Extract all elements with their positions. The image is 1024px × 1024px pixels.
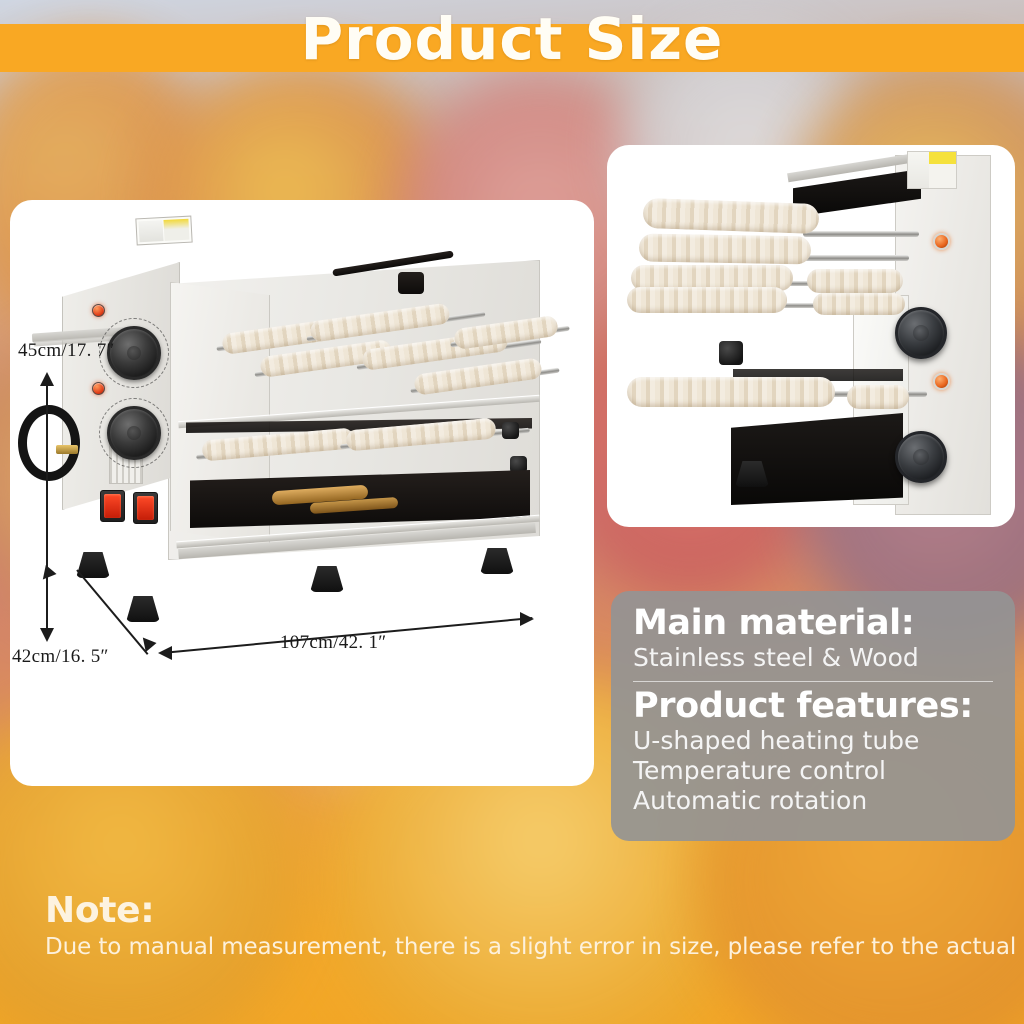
info-panel: Main material: Stainless steel & Wood Pr… — [611, 591, 1015, 841]
warning-label — [907, 151, 957, 189]
product-features-list: U-shaped heating tube Temperature contro… — [633, 726, 993, 816]
product-size-infographic: Product Size — [0, 0, 1024, 1024]
roller-shaft — [803, 231, 919, 237]
wooden-roller — [807, 269, 903, 293]
dimension-label-width: 107cm/42. 1″ — [280, 632, 387, 654]
dimension-label-height: 45cm/17. 7″ — [18, 340, 115, 362]
wooden-roller — [639, 234, 811, 265]
indicator-lamp-upper — [933, 233, 950, 250]
label-warning-half — [163, 219, 190, 241]
roller-shaft — [797, 255, 909, 261]
dimension-arrow-height-line — [46, 382, 48, 632]
dimension-label-depth: 42cm/16. 5″ — [12, 646, 109, 668]
note-block: Note: Due to manual measurement, there i… — [45, 893, 1005, 962]
power-switch-right[interactable] — [133, 492, 158, 524]
machine-foot — [310, 566, 344, 592]
thermostat-knob-upper[interactable] — [107, 326, 161, 380]
power-switch-left[interactable] — [100, 490, 125, 522]
feature-item: Automatic rotation — [633, 786, 993, 816]
power-cable-ring — [18, 405, 80, 481]
wooden-roller — [643, 198, 820, 234]
thermostat-knob-lower[interactable] — [107, 406, 161, 460]
dimension-arrow-depth-head-b — [137, 633, 156, 652]
thermostat-knob-lower[interactable] — [895, 431, 947, 483]
wooden-roller — [627, 377, 835, 407]
feature-item: U-shaped heating tube — [633, 726, 993, 756]
indicator-lamp-lower — [92, 382, 105, 395]
machine-foot — [126, 596, 160, 622]
machine-rating-label — [135, 216, 192, 246]
wooden-roller — [627, 287, 787, 313]
detail-photo-card — [607, 145, 1015, 527]
detail-lower-cavity — [731, 413, 903, 505]
note-body: Due to manual measurement, there is a sl… — [45, 933, 1005, 962]
dimension-arrow-width-head-left — [158, 646, 172, 660]
detail-illustration — [607, 145, 1015, 527]
roller-chuck — [719, 341, 743, 365]
label-left-half — [138, 220, 163, 242]
indicator-lamp-upper — [92, 304, 105, 317]
dimension-arrow-depth-head-a — [37, 565, 56, 584]
indicator-lamp-lower — [933, 373, 950, 390]
dimension-arrow-height-head-bottom — [40, 628, 54, 642]
info-divider — [633, 681, 993, 682]
machine-foot — [480, 548, 514, 574]
product-features-heading: Product features: — [633, 688, 993, 726]
thermostat-knob-upper[interactable] — [895, 307, 947, 359]
main-material-value: Stainless steel & Wood — [633, 643, 993, 674]
note-title: Note: — [45, 893, 1005, 929]
main-material-heading: Main material: — [633, 605, 993, 643]
feature-item: Temperature control — [633, 756, 993, 786]
machine-illustration: 45cm/17. 7″ 42cm/16. 5″ 107cm/42. 1″ — [10, 200, 594, 786]
main-product-photo-card: 45cm/17. 7″ 42cm/16. 5″ 107cm/42. 1″ — [10, 200, 594, 786]
dimension-arrow-width-head-right — [520, 612, 534, 626]
support-arm-bracket — [398, 272, 424, 294]
page-title: Product Size — [0, 10, 1024, 68]
brass-fitting — [56, 445, 78, 454]
wooden-roller — [813, 293, 905, 315]
dimension-arrow-height-head-top — [40, 372, 54, 386]
wooden-roller — [847, 385, 909, 409]
roller-chuck — [502, 422, 519, 439]
